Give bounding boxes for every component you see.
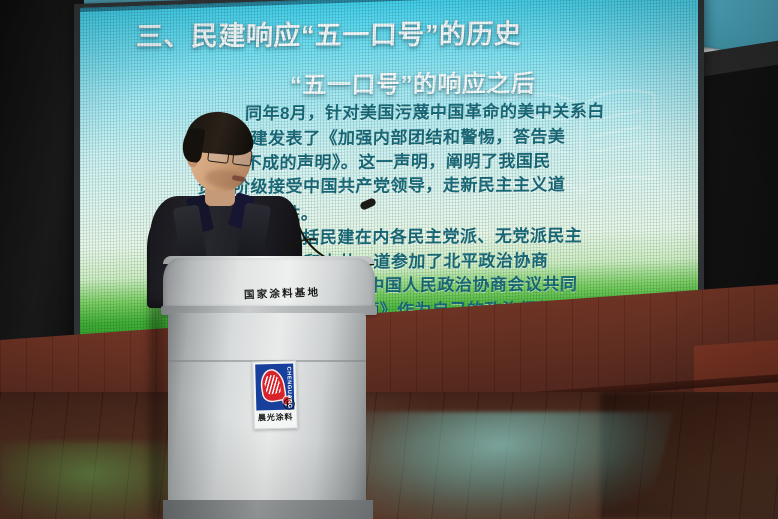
brand-logo-plaque: ® CHENGUANG 晨光涂料 [252,360,298,429]
podium-front-label: 国家涂料基地 [244,285,321,303]
slide-subheading: “五一口号”的响应之后 [290,64,536,101]
open-book-watermark-icon [486,63,676,220]
wall-panel-left [0,0,84,352]
conference-photo-scene: 三、民建响应“五一口号”的历史 “五一口号”的响应之后 同年8月，针对美国污蔑中… [0,0,778,519]
logo-latin-brand: CHENGUANG [285,367,292,409]
logo-blue-field: ® CHENGUANG [255,364,294,411]
slide-body-line: 资产阶级接受中国共产党领导，走新民主主义道 [198,170,566,198]
slide-body-line: 同年8月，针对美国污蔑中国革命的美中关系白 [245,97,606,125]
podium-base [163,500,373,519]
slide-heading: 三、民建响应“五一口号”的历史 [136,12,522,54]
logo-chinese-brand: 晨光涂料 [254,411,296,423]
reflective-floor [0,392,778,519]
